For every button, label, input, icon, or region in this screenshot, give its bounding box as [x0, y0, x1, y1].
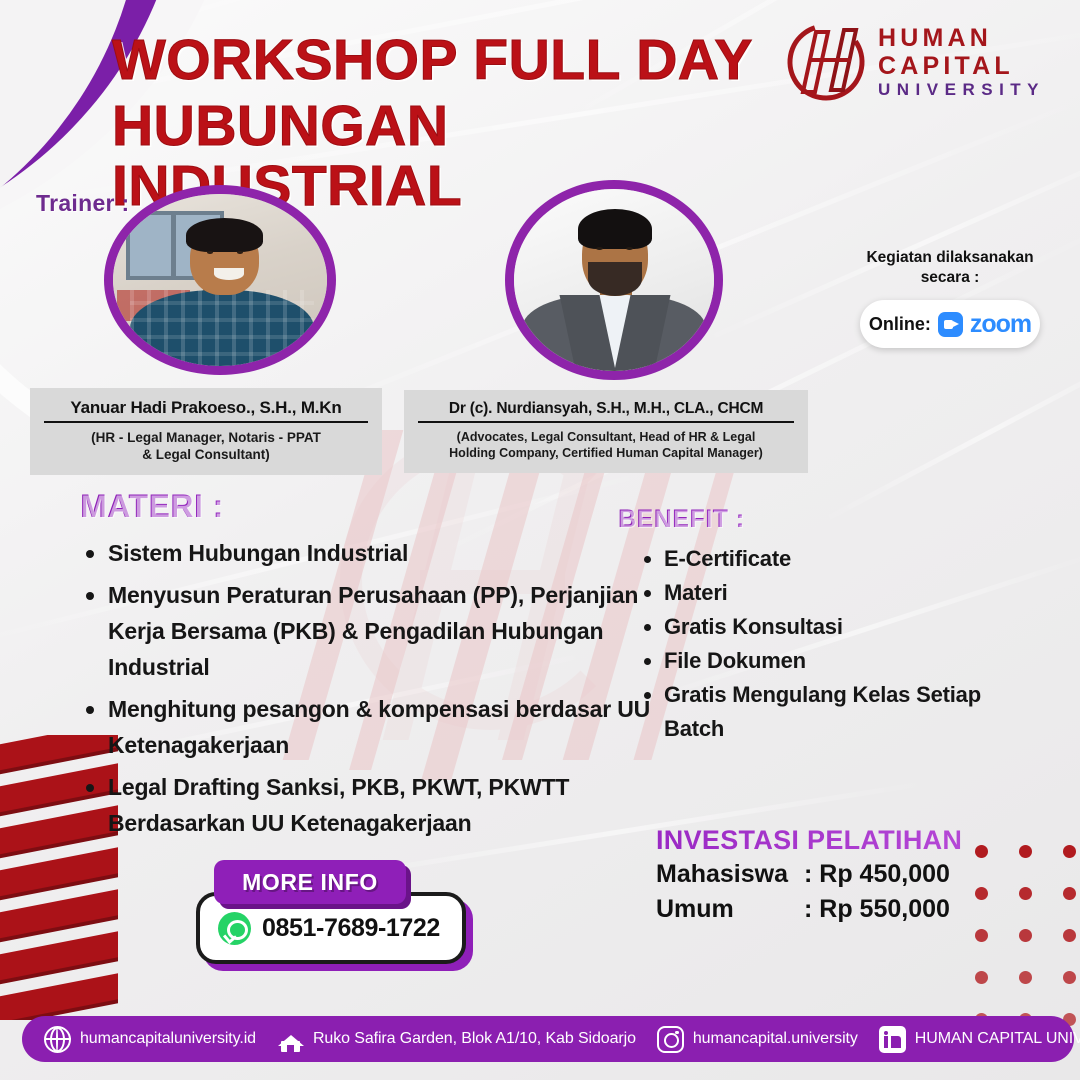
logo-monogram-icon	[782, 16, 874, 108]
delivery-mode: Kegiatan dilaksanakan secara : Online: z…	[828, 248, 1072, 348]
trainer-photo-two	[505, 180, 723, 380]
delivery-caption-l1: Kegiatan dilaksanakan	[866, 249, 1033, 266]
red-stripe	[0, 970, 118, 1020]
trainer-role-one: (HR - Legal Manager, Notaris - PPAT & Le…	[44, 429, 368, 463]
logo-wordmark: HUMAN CAPITAL UNIVERSITY	[878, 24, 1074, 100]
decor-dot	[1019, 845, 1032, 858]
benefit-item: File Dokumen	[664, 644, 1018, 678]
investment-label: Mahasiswa	[656, 858, 804, 891]
trainer-nameplate-one: Yanuar Hadi Prakoeso., S.H., M.Kn (HR - …	[30, 388, 382, 475]
linkedin-text: HUMAN CAPITAL UNIVERSITY	[915, 1030, 1080, 1048]
investment-value: : Rp 550,000	[804, 893, 950, 926]
decor-dot	[1063, 929, 1076, 942]
benefit-heading: BENEFIT :	[618, 505, 1018, 534]
home-icon	[277, 1026, 304, 1053]
trainer-role-one-l2: & Legal Consultant)	[142, 447, 270, 462]
benefit-section: BENEFIT : E-CertificateMateriGratis Kons…	[618, 505, 1018, 746]
investment-label: Umum	[656, 893, 804, 926]
decor-dot	[975, 929, 988, 942]
phone-number: 0851-7689-1722	[262, 914, 440, 943]
benefit-item: Materi	[664, 576, 1018, 610]
investment-value: : Rp 450,000	[804, 858, 950, 891]
zoom-badge[interactable]: Online: zoom	[860, 300, 1040, 348]
instagram-icon	[657, 1026, 684, 1053]
decor-dot	[1019, 929, 1032, 942]
title-line-1: WORKSHOP FULL DAY	[112, 30, 812, 90]
logo-line-1: HUMAN CAPITAL	[878, 24, 1074, 80]
trainer-role-two: (Advocates, Legal Consultant, Head of HR…	[418, 429, 794, 461]
materi-item: Legal Drafting Sanksi, PKB, PKWT, PKWTT …	[80, 769, 655, 841]
investment-row: Umum: Rp 550,000	[656, 893, 996, 926]
footer-linkedin[interactable]: HUMAN CAPITAL UNIVERSITY	[879, 1026, 1080, 1053]
benefit-item: Gratis Mengulang Kelas Setiap Batch	[664, 678, 1018, 746]
decor-dot	[1063, 887, 1076, 900]
online-label: Online:	[869, 314, 931, 335]
trainer-name-one: Yanuar Hadi Prakoeso., S.H., M.Kn	[44, 398, 368, 423]
footer-address: Ruko Safira Garden, Blok A1/10, Kab Sido…	[277, 1026, 636, 1053]
decor-dot	[1063, 845, 1076, 858]
linkedin-icon	[879, 1026, 906, 1053]
more-info-cta[interactable]: MORE INFO 0851-7689-1722	[196, 860, 466, 964]
more-info-label: MORE INFO	[242, 869, 378, 896]
investment-row: Mahasiswa: Rp 450,000	[656, 858, 996, 891]
decor-dot	[1019, 887, 1032, 900]
investment-heading: INVESTASI PELATIHAN	[656, 825, 996, 856]
trainer-name-two: Dr (c). Nurdiansyah, S.H., M.H., CLA., C…	[418, 400, 794, 423]
trainer-nameplate-two: Dr (c). Nurdiansyah, S.H., M.H., CLA., C…	[404, 390, 808, 473]
globe-icon	[44, 1026, 71, 1053]
materi-list: Sistem Hubungan IndustrialMenyusun Perat…	[80, 535, 655, 841]
instagram-text: humancapital.university	[693, 1030, 858, 1048]
materi-heading: MATERI :	[80, 488, 655, 525]
benefit-item: E-Certificate	[664, 542, 1018, 576]
decor-dot	[1063, 971, 1076, 984]
footer-instagram[interactable]: humancapital.university	[657, 1026, 858, 1053]
materi-item: Sistem Hubungan Industrial	[80, 535, 655, 571]
trainer-role-one-l1: (HR - Legal Manager, Notaris - PPAT	[91, 430, 321, 445]
benefit-list: E-CertificateMateriGratis KonsultasiFile…	[618, 542, 1018, 746]
investment-rows: Mahasiswa: Rp 450,000Umum: Rp 550,000	[656, 858, 996, 926]
footer-website[interactable]: humancapitaluniversity.id	[44, 1026, 256, 1053]
trainer-photo-one	[104, 185, 336, 375]
investment-section: INVESTASI PELATIHAN Mahasiswa: Rp 450,00…	[656, 825, 996, 926]
delivery-caption-l2: secara :	[921, 269, 980, 286]
whatsapp-icon	[218, 912, 251, 945]
trainer-role-two-l1: (Advocates, Legal Consultant, Head of HR…	[457, 430, 756, 444]
website-text: humancapitaluniversity.id	[80, 1030, 256, 1048]
more-info-tab[interactable]: MORE INFO	[214, 860, 406, 904]
decor-dot	[975, 971, 988, 984]
materi-item: Menghitung pesangon & kompensasi berdasa…	[80, 691, 655, 763]
zoom-camera-icon	[938, 312, 963, 337]
address-text: Ruko Safira Garden, Blok A1/10, Kab Sido…	[313, 1030, 636, 1048]
logo-line-2: UNIVERSITY	[878, 80, 1074, 100]
materi-section: MATERI : Sistem Hubungan IndustrialMenyu…	[80, 488, 655, 847]
trainer-role-two-l2: Holding Company, Certified Human Capital…	[449, 446, 763, 460]
decor-dot	[1019, 971, 1032, 984]
zoom-wordmark: zoom	[970, 310, 1031, 339]
benefit-item: Gratis Konsultasi	[664, 610, 1018, 644]
materi-item: Menyusun Peraturan Perusahaan (PP), Perj…	[80, 577, 655, 685]
delivery-mode-caption: Kegiatan dilaksanakan secara :	[828, 248, 1072, 288]
footer-bar: humancapitaluniversity.id Ruko Safira Ga…	[22, 1016, 1074, 1062]
brand-logo: HUMAN CAPITAL UNIVERSITY	[782, 14, 1074, 109]
